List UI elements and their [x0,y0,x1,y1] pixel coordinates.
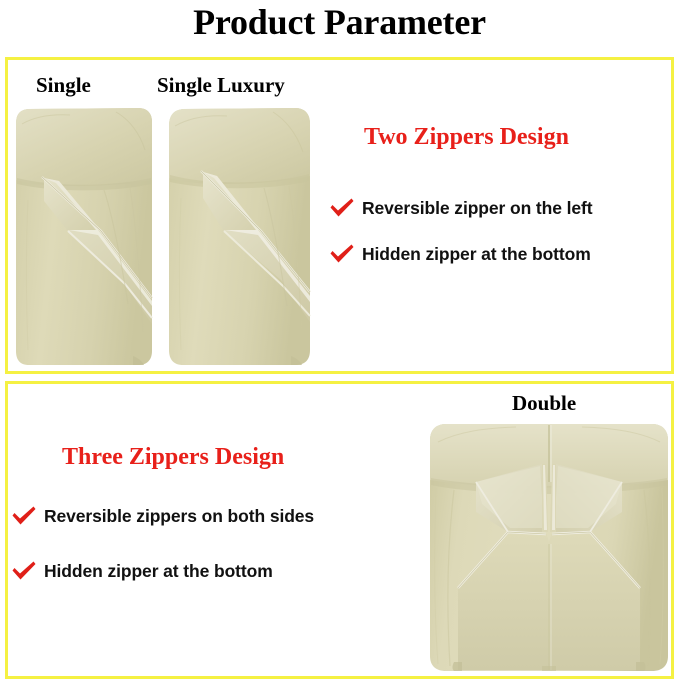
page-title: Product Parameter [0,0,679,44]
check-icon [329,197,355,219]
top-panel-bullet-1: Reversible zipper on the left [329,197,593,219]
bottom-panel-bullet-2: Hidden zipper at the bottom [11,560,273,582]
top-panel-bullet-2: Hidden zipper at the bottom [329,243,591,265]
check-icon [11,505,37,527]
check-icon [11,560,37,582]
sleeping-bag-liner-single-luxury-image [165,104,313,369]
top-panel-heading: Two Zippers Design [364,123,569,151]
sleeping-bag-liner-double-image [424,420,674,676]
check-icon [329,243,355,265]
bed-label-single: Single [36,73,91,97]
bottom-panel-heading: Three Zippers Design [62,443,284,471]
bottom-panel-bullet-2-text: Hidden zipper at the bottom [44,561,273,582]
bottom-panel-bullet-1-text: Reversible zippers on both sides [44,506,314,527]
top-panel-bullet-2-text: Hidden zipper at the bottom [362,244,591,265]
top-panel-bullet-1-text: Reversible zipper on the left [362,198,593,219]
sleeping-bag-liner-single-image [12,104,155,369]
bottom-panel-bullet-1: Reversible zippers on both sides [11,505,314,527]
bed-label-single-luxury: Single Luxury [157,73,285,97]
bed-label-double: Double [512,391,576,415]
